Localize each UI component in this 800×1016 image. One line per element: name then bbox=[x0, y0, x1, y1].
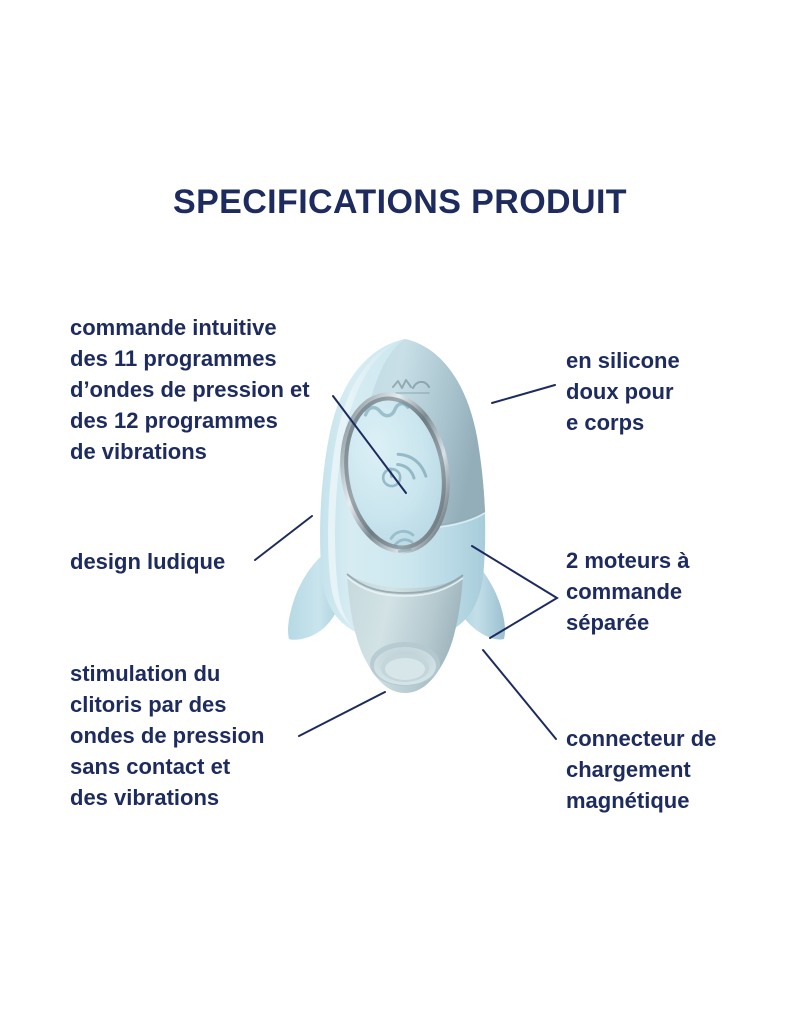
specifications-page: SPECIFICATIONS PRODUIT bbox=[0, 0, 800, 1016]
callout-silicone-doux: en silicone doux pour e corps bbox=[566, 345, 791, 438]
callout-connecteur-magnetique: connecteur de chargement magnétique bbox=[566, 723, 798, 816]
callout-stimulation-clitoris: stimulation du clitoris par des ondes de… bbox=[70, 658, 325, 813]
callout-deux-moteurs: 2 moteurs à commande séparée bbox=[566, 545, 791, 638]
callout-commande-intuitive: commande intuitive des 11 programmes d’o… bbox=[70, 312, 335, 467]
pressure-wave-nozzle bbox=[370, 642, 440, 686]
callout-design-ludique: design ludique bbox=[70, 546, 335, 577]
page-title: SPECIFICATIONS PRODUIT bbox=[0, 183, 800, 222]
